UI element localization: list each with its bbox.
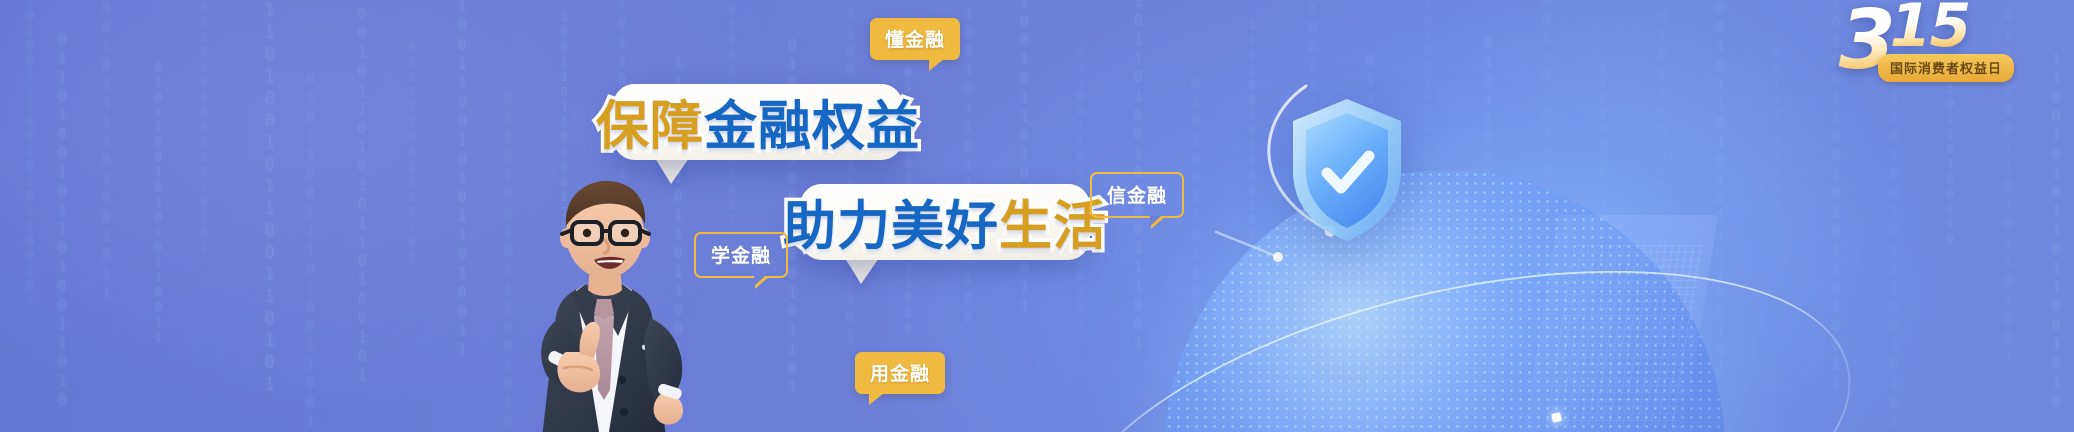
headline-plate-2: 助力美好生活 (800, 184, 1090, 260)
headline-2-blue: 助力美好 (783, 196, 999, 257)
binary-stream: 0101100101010110011 (1478, 34, 1497, 395)
promo-banner: 1010011100101011001010110100101101001101… (0, 0, 2074, 432)
binary-stream: 101001100101011010011 (452, 0, 471, 359)
binary-stream: 1100101011011001010 (2046, 50, 2065, 411)
headline-line-2: 助力美好生活 (783, 184, 1107, 260)
binary-stream: 001101011001101 (404, 40, 419, 265)
binary-stream: 110100101100110101 (258, 0, 281, 396)
binary-stream: 0101100101010110011 (150, 60, 165, 345)
binary-stream: 100101101010110100101 (1710, 0, 1729, 379)
binary-stream: 0101100111010011001 (1652, 8, 1671, 369)
dotted-globe-icon (1165, 170, 1725, 432)
keyword-tag-xue-jinrong: 学金融 (694, 232, 788, 278)
tag-tail (1151, 216, 1166, 229)
binary-stream: 10010111101001011 (96, 0, 115, 303)
binary-stream: 0110100101110010101 (1884, 70, 1903, 431)
tag-tail (929, 59, 944, 71)
binary-stream: 001101011001101 (1768, 46, 1783, 271)
shield-check-icon (1283, 95, 1411, 245)
globe-dot-texture (1165, 170, 1725, 432)
binary-stream: 110010110101010011 (1014, 0, 1033, 316)
binary-stream: 10010110110110100 (958, 4, 977, 327)
globe-sphere (1165, 170, 1725, 432)
binary-stream: 110100101100110101 (1594, 62, 1609, 332)
headline-1-blue: 金融权益 (704, 96, 920, 157)
businessman-thumbs-up-icon (498, 168, 710, 432)
binary-stream: 1101001011001011 (1244, 18, 1259, 258)
logo-subtitle: 国际消费者权益日 (1878, 54, 2014, 82)
binary-stream: 1001101010010110101 (1536, 0, 1555, 333)
headline-plate-1: 保障金融权益 (613, 84, 903, 160)
keyword-tag-yong-jinrong: 用金融 (855, 352, 945, 394)
binary-stream: 101001110010101100101 (22, 0, 37, 309)
binary-stream: 10110010101100101101 (840, 0, 859, 346)
keyword-tag-xin-jinrong: 信金融 (1090, 172, 1184, 218)
headline-line-1: 保障金融权益 (596, 84, 920, 160)
binary-stream: 01010011011010010110 (1186, 74, 1205, 432)
headline-2-tail (845, 258, 879, 284)
headline-1-gold: 保障 (596, 96, 704, 157)
binary-stream: 01101001011010011010 (52, 30, 71, 410)
tag-tail (755, 276, 770, 289)
tag-tail (869, 393, 884, 405)
keyword-tag-label: 用金融 (870, 363, 930, 385)
headline-1-tail (655, 158, 689, 184)
binary-stream: 0101100111010011001 (300, 70, 319, 431)
logo-number-15: 15 (1890, 0, 1970, 61)
background-grid (1546, 245, 1705, 425)
globe-orbit-ring (1028, 204, 1887, 432)
logo-315: 315 国际消费者权益日 (1784, 0, 2024, 92)
keyword-tag-label: 信金融 (1107, 185, 1167, 207)
binary-stream: 1001101010010110101 (196, 0, 211, 255)
orbit-node (1551, 412, 1562, 423)
binary-stream: 10010111101001011 (1420, 0, 1435, 239)
keyword-tag-label: 懂金融 (885, 29, 945, 51)
keyword-tag-label: 学金融 (711, 245, 771, 267)
keyword-tag-dong-jinrong: 懂金融 (870, 18, 960, 60)
binary-stream: 100101101010110100101 (352, 0, 371, 385)
background-panel (1522, 215, 1718, 432)
